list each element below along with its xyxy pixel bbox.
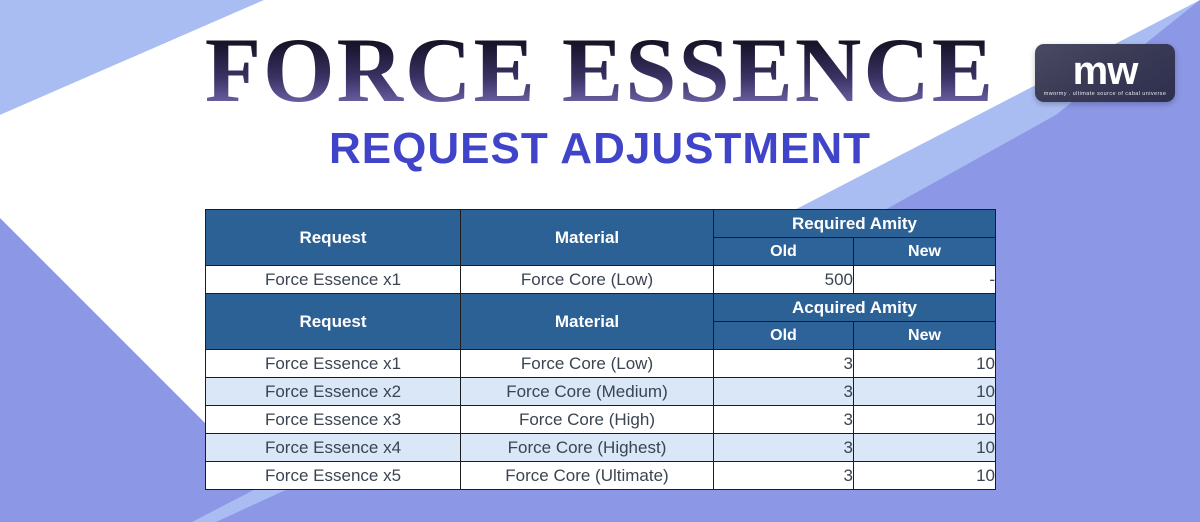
column-group-header-required-amity: Required Amity [714,210,996,238]
cell-material: Force Core (Low) [461,266,714,294]
column-group-header-acquired-amity: Acquired Amity [714,294,996,322]
table-row: Force Essence x4 Force Core (Highest) 3 … [206,434,996,462]
cell-acquired-new: 10 [854,406,996,434]
table-row: Force Essence x2 Force Core (Medium) 3 1… [206,378,996,406]
mw-logo-badge: mw mwormy . ultimate source of cabal uni… [1035,44,1175,102]
cell-request: Force Essence x1 [206,266,461,294]
cell-request: Force Essence x1 [206,350,461,378]
table-header-row-acquired: Request Material Acquired Amity [206,294,996,322]
page-title: FORCE ESSENCE [0,24,1200,116]
column-header-material: Material [461,210,714,266]
mw-logo-tagline: mwormy . ultimate source of cabal univer… [1044,91,1167,97]
cell-request: Force Essence x4 [206,434,461,462]
table-row: Force Essence x5 Force Core (Ultimate) 3… [206,462,996,490]
cell-required-new: - [854,266,996,294]
table-row: Force Essence x3 Force Core (High) 3 10 [206,406,996,434]
column-header-material: Material [461,294,714,350]
column-header-request: Request [206,210,461,266]
column-header-acquired-old: Old [714,322,854,350]
page-subtitle: REQUEST ADJUSTMENT [0,124,1200,174]
cell-material: Force Core (Medium) [461,378,714,406]
cell-acquired-old: 3 [714,378,854,406]
cell-material: Force Core (High) [461,406,714,434]
column-header-request: Request [206,294,461,350]
cell-acquired-old: 3 [714,350,854,378]
cell-request: Force Essence x5 [206,462,461,490]
cell-acquired-new: 10 [854,434,996,462]
cell-required-old: 500 [714,266,854,294]
table-row: Force Essence x1 Force Core (Low) 3 10 [206,350,996,378]
amity-tables: Request Material Required Amity Old New … [205,209,995,490]
cell-material: Force Core (Highest) [461,434,714,462]
table-row: Force Essence x1 Force Core (Low) 500 - [206,266,996,294]
column-header-required-old: Old [714,238,854,266]
table-header-row-required: Request Material Required Amity [206,210,996,238]
cell-acquired-old: 3 [714,462,854,490]
cell-acquired-old: 3 [714,406,854,434]
infographic-canvas: mw mwormy . ultimate source of cabal uni… [0,0,1200,522]
cell-request: Force Essence x3 [206,406,461,434]
cell-material: Force Core (Low) [461,350,714,378]
cell-acquired-new: 10 [854,462,996,490]
cell-acquired-new: 10 [854,378,996,406]
mw-logo-mark: mw [1073,52,1138,90]
column-header-required-new: New [854,238,996,266]
cell-acquired-old: 3 [714,434,854,462]
cell-request: Force Essence x2 [206,378,461,406]
cell-acquired-new: 10 [854,350,996,378]
amity-table: Request Material Required Amity Old New … [205,209,996,490]
column-header-acquired-new: New [854,322,996,350]
cell-material: Force Core (Ultimate) [461,462,714,490]
